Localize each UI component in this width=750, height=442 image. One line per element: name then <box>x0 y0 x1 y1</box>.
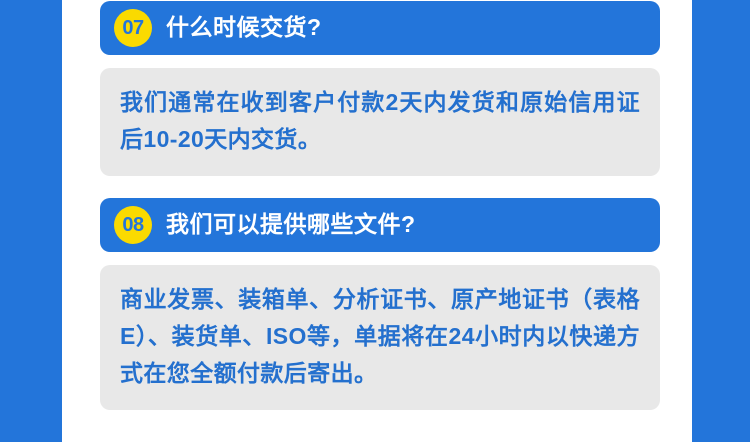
spacer-item07-item08 <box>100 176 660 198</box>
faq-number-badge-07: 07 <box>114 9 152 47</box>
faq-question-text-08: 我们可以提供哪些文件? <box>166 211 416 239</box>
faq-question-text-07: 什么时候交货? <box>166 14 322 42</box>
faq-answer-08: 商业发票、装箱单、分析证书、原产地证书（表格E）、装货单、ISO等，单据将在24… <box>100 265 660 410</box>
spacer-q07-a07 <box>100 55 660 68</box>
faq-list: 07 什么时候交货? 我们通常在收到客户付款2天内发货和原始信用证后10-20天… <box>100 0 660 442</box>
faq-question-08[interactable]: 08 我们可以提供哪些文件? <box>100 198 660 252</box>
faq-answer-07: 我们通常在收到客户付款2天内发货和原始信用证后10-20天内交货。 <box>100 68 660 176</box>
right-blue-band <box>692 0 750 442</box>
spacer-q08-a08 <box>100 252 660 265</box>
faq-page: 07 什么时候交货? 我们通常在收到客户付款2天内发货和原始信用证后10-20天… <box>0 0 750 442</box>
left-blue-band <box>0 0 62 442</box>
faq-question-07[interactable]: 07 什么时候交货? <box>100 1 660 55</box>
faq-number-badge-08: 08 <box>114 206 152 244</box>
